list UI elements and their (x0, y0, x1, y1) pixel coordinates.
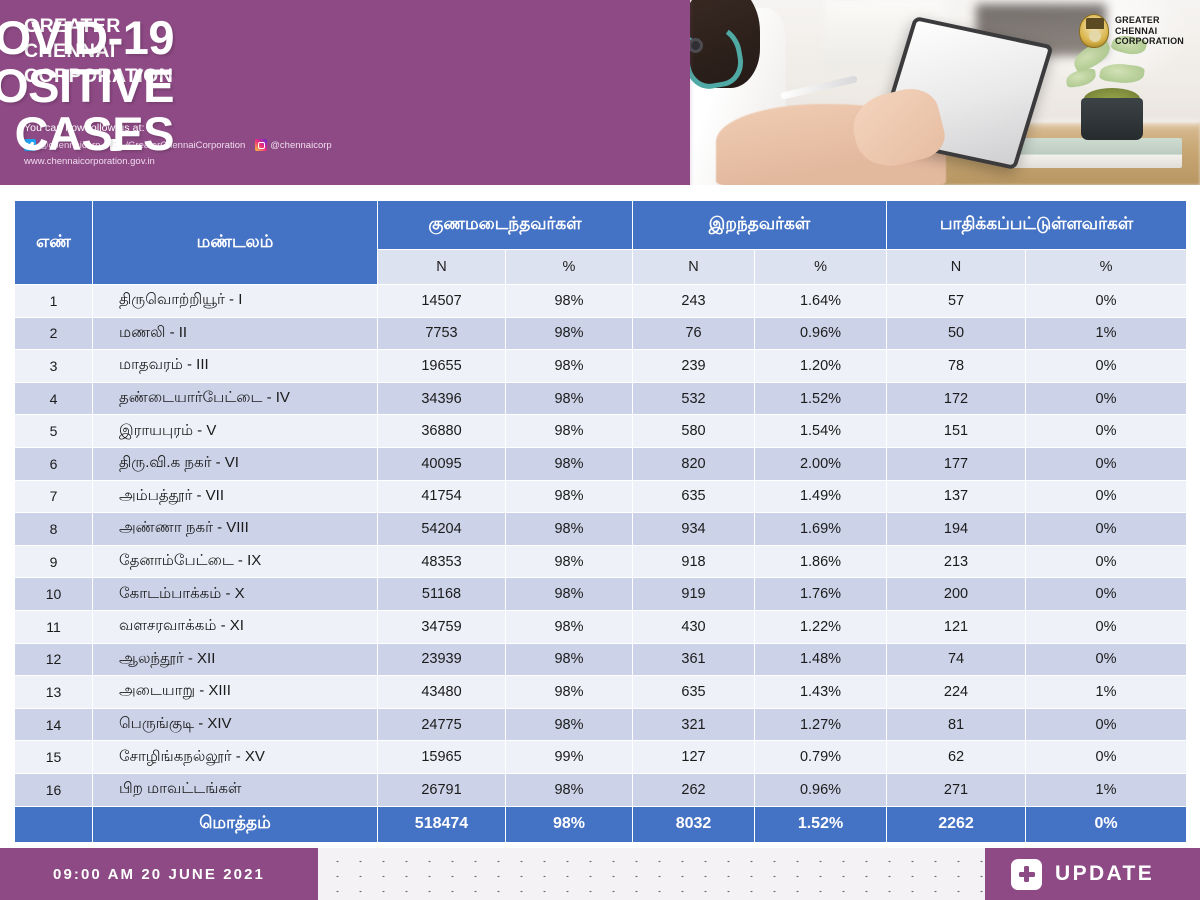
table-row: 3மாதவரம் - III1965598%2391.20%780% (15, 350, 1187, 383)
row-serial: 12 (15, 643, 93, 676)
row-deaths-n: 430 (633, 610, 755, 643)
row-active-percent: 0% (1026, 708, 1187, 741)
subheader-deaths-n: N (633, 250, 755, 285)
total-deaths-n: 8032 (633, 806, 755, 842)
row-recovered-percent: 98% (506, 513, 633, 546)
row-recovered-percent: 98% (506, 285, 633, 318)
table-header: எண் மண்டலம் குணமடைந்தவர்கள் இறந்தவர்கள் … (15, 201, 1187, 285)
row-active-n: 200 (887, 578, 1026, 611)
row-recovered-percent: 98% (506, 415, 633, 448)
column-header-deaths: இறந்தவர்கள் (633, 201, 887, 250)
table-row: 10கோடம்பாக்கம் - X5116898%9191.76%2000% (15, 578, 1187, 611)
row-active-percent: 0% (1026, 382, 1187, 415)
table-row: 13அடையாறு - XIII4348098%6351.43%2241% (15, 676, 1187, 709)
table-row: 15சோழிங்கநல்லூர் - XV1596599%1270.79%620… (15, 741, 1187, 774)
row-serial: 8 (15, 513, 93, 546)
covid-data-table-container: எண் மண்டலம் குணமடைந்தவர்கள் இறந்தவர்கள் … (14, 200, 1186, 843)
column-header-active: பாதிக்கப்பட்டுள்ளவர்கள் (887, 201, 1187, 250)
row-zone-name: மாதவரம் - III (93, 350, 378, 383)
row-recovered-percent: 98% (506, 480, 633, 513)
total-deaths-percent: 1.52% (755, 806, 887, 842)
row-recovered-n: 48353 (378, 545, 506, 578)
row-recovered-n: 19655 (378, 350, 506, 383)
row-zone-name: இராயபுரம் - V (93, 415, 378, 448)
row-serial: 11 (15, 610, 93, 643)
row-deaths-n: 127 (633, 741, 755, 774)
row-active-n: 137 (887, 480, 1026, 513)
plant-pot (1081, 98, 1143, 140)
row-recovered-percent: 98% (506, 317, 633, 350)
table-row: 11வளசரவாக்கம் - XI3475998%4301.22%1210% (15, 610, 1187, 643)
row-active-percent: 0% (1026, 610, 1187, 643)
subheader-active-percent: % (1026, 250, 1187, 285)
row-active-percent: 0% (1026, 350, 1187, 383)
gcc-logo: GREATER CHENNAI CORPORATION (1079, 14, 1184, 48)
subheader-active-n: N (887, 250, 1026, 285)
gcc-logo-line-3: CORPORATION (1115, 36, 1184, 47)
row-deaths-n: 934 (633, 513, 755, 546)
row-deaths-percent: 1.76% (755, 578, 887, 611)
row-deaths-n: 321 (633, 708, 755, 741)
row-serial: 14 (15, 708, 93, 741)
table-group-header-row: எண் மண்டலம் குணமடைந்தவர்கள் இறந்தவர்கள் … (15, 201, 1187, 250)
subheader-recovered-n: N (378, 250, 506, 285)
row-active-percent: 0% (1026, 643, 1187, 676)
gcc-logo-line-1: GREATER (1115, 15, 1184, 26)
row-recovered-n: 7753 (378, 317, 506, 350)
row-zone-name: பிற மாவட்டங்கள் (93, 773, 378, 806)
row-recovered-n: 24775 (378, 708, 506, 741)
row-recovered-n: 41754 (378, 480, 506, 513)
row-deaths-n: 919 (633, 578, 755, 611)
row-deaths-percent: 1.69% (755, 513, 887, 546)
row-recovered-n: 43480 (378, 676, 506, 709)
row-zone-name: சோழிங்கநல்லூர் - XV (93, 741, 378, 774)
row-zone-name: திருவொற்றியூர் - I (93, 285, 378, 318)
row-zone-name: அம்பத்தூர் - VII (93, 480, 378, 513)
row-serial: 4 (15, 382, 93, 415)
row-deaths-n: 532 (633, 382, 755, 415)
row-recovered-n: 26791 (378, 773, 506, 806)
row-serial: 2 (15, 317, 93, 350)
column-header-zone: மண்டலம் (93, 201, 378, 285)
row-active-percent: 0% (1026, 285, 1187, 318)
row-deaths-percent: 0.96% (755, 773, 887, 806)
row-zone-name: மணலி - II (93, 317, 378, 350)
update-button[interactable]: UPDATE (985, 848, 1200, 900)
gcc-logo-line-2: CHENNAI (1115, 26, 1184, 37)
row-deaths-percent: 1.27% (755, 708, 887, 741)
table-total-row: மொத்தம்51847498%80321.52%22620% (15, 806, 1187, 842)
row-recovered-n: 34759 (378, 610, 506, 643)
row-recovered-percent: 99% (506, 741, 633, 774)
column-header-recovered: குணமடைந்தவர்கள் (378, 201, 633, 250)
title-line-1: COVID-19 (0, 14, 174, 62)
timestamp-label: 09:00 AM 20 JUNE 2021 (0, 848, 318, 900)
row-zone-name: தண்டையார்பேட்டை - IV (93, 382, 378, 415)
row-recovered-n: 14507 (378, 285, 506, 318)
row-serial: 6 (15, 447, 93, 480)
row-active-percent: 0% (1026, 513, 1187, 546)
update-label: UPDATE (1055, 862, 1154, 886)
row-recovered-n: 34396 (378, 382, 506, 415)
row-recovered-percent: 98% (506, 676, 633, 709)
gcc-logo-text: GREATER CHENNAI CORPORATION (1115, 15, 1184, 47)
gcc-seal-icon (1079, 14, 1109, 48)
row-deaths-percent: 1.54% (755, 415, 887, 448)
row-active-percent: 1% (1026, 773, 1187, 806)
poster-title: COVID-19 POSITIVE CASES (0, 14, 174, 158)
row-active-percent: 0% (1026, 545, 1187, 578)
row-active-n: 271 (887, 773, 1026, 806)
row-zone-name: தேனாம்பேட்டை - IX (93, 545, 378, 578)
table-row: 7அம்பத்தூர் - VII4175498%6351.49%1370% (15, 480, 1187, 513)
row-recovered-n: 51168 (378, 578, 506, 611)
photo-book (1006, 138, 1182, 168)
row-recovered-n: 40095 (378, 447, 506, 480)
table-row: 12ஆலந்தூர் - XII2393998%3611.48%740% (15, 643, 1187, 676)
row-active-n: 213 (887, 545, 1026, 578)
row-deaths-percent: 1.48% (755, 643, 887, 676)
row-zone-name: ஆலந்தூர் - XII (93, 643, 378, 676)
column-header-serial: எண் (15, 201, 93, 285)
row-zone-name: பெருங்குடி - XIV (93, 708, 378, 741)
row-serial: 3 (15, 350, 93, 383)
row-recovered-percent: 98% (506, 643, 633, 676)
row-active-n: 50 (887, 317, 1026, 350)
row-deaths-percent: 1.43% (755, 676, 887, 709)
row-deaths-n: 243 (633, 285, 755, 318)
row-deaths-percent: 1.86% (755, 545, 887, 578)
row-active-percent: 1% (1026, 676, 1187, 709)
row-recovered-n: 15965 (378, 741, 506, 774)
medical-cross-icon (1011, 859, 1042, 890)
row-deaths-n: 262 (633, 773, 755, 806)
row-active-percent: 0% (1026, 447, 1187, 480)
row-deaths-n: 580 (633, 415, 755, 448)
poster-footer: 09:00 AM 20 JUNE 2021 UPDATE (0, 848, 1200, 900)
row-recovered-percent: 98% (506, 708, 633, 741)
row-deaths-percent: 1.49% (755, 480, 887, 513)
row-active-n: 81 (887, 708, 1026, 741)
footer-dot-pattern (318, 848, 985, 900)
title-line-2: POSITIVE (0, 62, 174, 110)
row-zone-name: கோடம்பாக்கம் - X (93, 578, 378, 611)
table-row: 5இராயபுரம் - V3688098%5801.54%1510% (15, 415, 1187, 448)
table-row: 6திரு.வி.க நகர் - VI4009598%8202.00%1770… (15, 447, 1187, 480)
row-recovered-percent: 98% (506, 773, 633, 806)
row-zone-name: வளசரவாக்கம் - XI (93, 610, 378, 643)
row-active-n: 74 (887, 643, 1026, 676)
row-serial: 1 (15, 285, 93, 318)
row-active-percent: 0% (1026, 480, 1187, 513)
instagram-icon (255, 139, 267, 151)
title-line-3: CASES (0, 110, 174, 158)
row-serial: 16 (15, 773, 93, 806)
row-active-n: 224 (887, 676, 1026, 709)
row-deaths-n: 239 (633, 350, 755, 383)
row-deaths-n: 918 (633, 545, 755, 578)
row-active-n: 151 (887, 415, 1026, 448)
total-recovered-n: 518474 (378, 806, 506, 842)
covid-data-table: எண் மண்டலம் குணமடைந்தவர்கள் இறந்தவர்கள் … (14, 200, 1187, 843)
row-active-percent: 0% (1026, 741, 1187, 774)
subheader-recovered-percent: % (506, 250, 633, 285)
table-row: 4தண்டையார்பேட்டை - IV3439698%5321.52%172… (15, 382, 1187, 415)
table-row: 1திருவொற்றியூர் - I1450798%2431.64%570% (15, 285, 1187, 318)
total-active-percent: 0% (1026, 806, 1187, 842)
row-deaths-percent: 2.00% (755, 447, 887, 480)
row-deaths-percent: 0.79% (755, 741, 887, 774)
row-recovered-n: 23939 (378, 643, 506, 676)
row-deaths-percent: 1.64% (755, 285, 887, 318)
table-row: 9தேனாம்பேட்டை - IX4835398%9181.86%2130% (15, 545, 1187, 578)
total-serial (15, 806, 93, 842)
row-deaths-percent: 1.22% (755, 610, 887, 643)
row-zone-name: அடையாறு - XIII (93, 676, 378, 709)
row-recovered-percent: 98% (506, 447, 633, 480)
row-active-n: 177 (887, 447, 1026, 480)
total-zone-name: மொத்தம் (93, 806, 378, 842)
row-deaths-n: 635 (633, 480, 755, 513)
row-deaths-n: 76 (633, 317, 755, 350)
row-active-percent: 0% (1026, 415, 1187, 448)
row-serial: 5 (15, 415, 93, 448)
poster-page: GREATER CHENNAI CORPORATION You can now … (0, 0, 1200, 900)
row-active-n: 194 (887, 513, 1026, 546)
row-recovered-percent: 98% (506, 545, 633, 578)
row-serial: 13 (15, 676, 93, 709)
row-serial: 7 (15, 480, 93, 513)
row-zone-name: திரு.வி.க நகர் - VI (93, 447, 378, 480)
row-recovered-n: 36880 (378, 415, 506, 448)
row-deaths-n: 635 (633, 676, 755, 709)
row-serial: 10 (15, 578, 93, 611)
total-active-n: 2262 (887, 806, 1026, 842)
row-active-n: 62 (887, 741, 1026, 774)
poster-header: GREATER CHENNAI CORPORATION You can now … (0, 0, 1200, 185)
row-deaths-percent: 1.52% (755, 382, 887, 415)
instagram-handle: @chennaicorp (270, 140, 331, 151)
subheader-deaths-percent: % (755, 250, 887, 285)
row-active-percent: 1% (1026, 317, 1187, 350)
row-recovered-percent: 98% (506, 578, 633, 611)
table-body: 1திருவொற்றியூர் - I1450798%2431.64%570%2… (15, 285, 1187, 843)
row-recovered-percent: 98% (506, 382, 633, 415)
row-recovered-percent: 98% (506, 350, 633, 383)
row-active-n: 78 (887, 350, 1026, 383)
row-serial: 15 (15, 741, 93, 774)
total-recovered-percent: 98% (506, 806, 633, 842)
row-active-percent: 0% (1026, 578, 1187, 611)
row-deaths-percent: 1.20% (755, 350, 887, 383)
row-deaths-n: 361 (633, 643, 755, 676)
table-row: 8அண்ணா நகர் - VIII5420498%9341.69%1940% (15, 513, 1187, 546)
row-deaths-percent: 0.96% (755, 317, 887, 350)
row-zone-name: அண்ணா நகர் - VIII (93, 513, 378, 546)
table-row: 2மணலி - II775398%760.96%501% (15, 317, 1187, 350)
row-active-n: 57 (887, 285, 1026, 318)
row-active-n: 121 (887, 610, 1026, 643)
row-deaths-n: 820 (633, 447, 755, 480)
row-recovered-percent: 98% (506, 610, 633, 643)
row-active-n: 172 (887, 382, 1026, 415)
row-recovered-n: 54204 (378, 513, 506, 546)
header-brand-panel: GREATER CHENNAI CORPORATION You can now … (0, 0, 690, 185)
row-serial: 9 (15, 545, 93, 578)
table-row: 14பெருங்குடி - XIV2477598%3211.27%810% (15, 708, 1187, 741)
social-link-instagram[interactable]: @chennaicorp (255, 139, 331, 151)
table-row: 16பிற மாவட்டங்கள்2679198%2620.96%2711% (15, 773, 1187, 806)
